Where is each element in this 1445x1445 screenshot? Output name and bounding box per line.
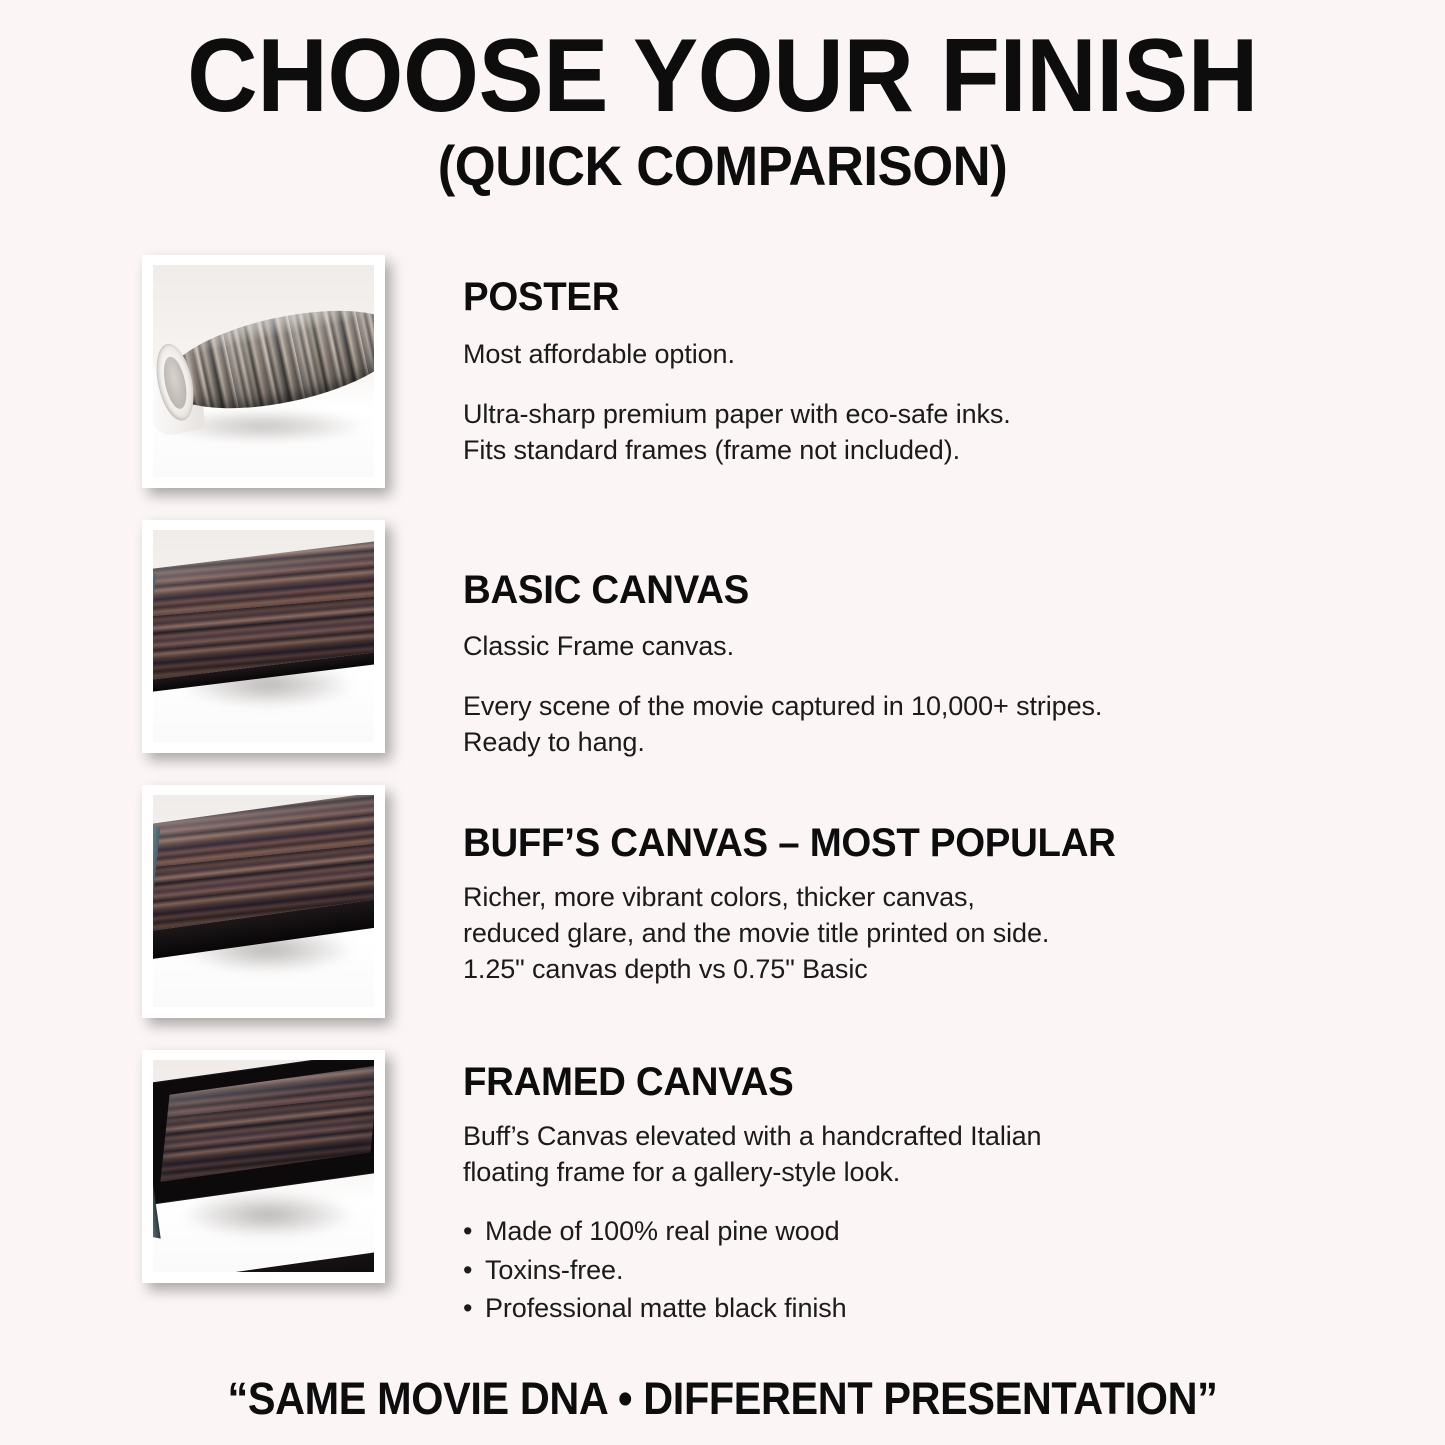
framed-canvas-text: FRAMED CANVAS Buff’s Canvas elevated wit… [463,1062,1253,1327]
poster-title: POSTER [463,277,1221,317]
poster-image-card [142,255,385,488]
buffs-canvas-image-card [142,785,385,1018]
poster-roll-photo [153,265,374,477]
framed-canvas-bullets: Made of 100% real pine wood Toxins-free.… [463,1212,1253,1327]
comparison-rows: POSTER Most affordable option. Ultra-sha… [0,255,1445,1315]
footer-tagline: “SAME MOVIE DNA • DIFFERENT PRESENTATION… [58,1374,1387,1424]
buffs-canvas-paragraph-1: Richer, more vibrant colors, thicker can… [463,879,1253,988]
page-subtitle: (QUICK COMPARISON) [43,131,1401,196]
footer: “SAME MOVIE DNA • DIFFERENT PRESENTATION… [0,1374,1445,1424]
page-title: CHOOSE YOUR FINISH [43,0,1401,131]
frame-shadow [180,1191,357,1238]
framed-canvas-photo [153,1060,374,1272]
comparison-row-buffs-canvas: BUFF’S CANVAS – MOST POPULAR Richer, mor… [0,785,1445,1050]
basic-canvas-photo [153,530,374,742]
basic-canvas-text: BASIC CANVAS Classic Frame canvas. Every… [463,570,1253,761]
poster-paragraph-2: Ultra-sharp premium paper with eco-safe … [463,396,1253,468]
framed-canvas-title: FRAMED CANVAS [463,1062,1221,1102]
buffs-canvas-photo [153,795,374,1007]
header: CHOOSE YOUR FINISH (QUICK COMPARISON) [0,0,1445,196]
list-item: Toxins-free. [463,1251,1253,1289]
buffs-canvas-title: BUFF’S CANVAS – MOST POPULAR [463,823,1221,863]
poster-paragraph-1: Most affordable option. [463,336,1253,372]
basic-canvas-title: BASIC CANVAS [463,570,1221,610]
framed-canvas-image-card [142,1050,385,1283]
framed-canvas-paragraph-1: Buff’s Canvas elevated with a handcrafte… [463,1118,1253,1190]
buffs-canvas-text: BUFF’S CANVAS – MOST POPULAR Richer, mor… [463,823,1253,988]
infographic-page: CHOOSE YOUR FINISH (QUICK COMPARISON) PO… [0,0,1445,1445]
basic-canvas-image-card [142,520,385,753]
comparison-row-basic-canvas: BASIC CANVAS Classic Frame canvas. Every… [0,520,1445,785]
list-item: Made of 100% real pine wood [463,1212,1253,1250]
poster-text: POSTER Most affordable option. Ultra-sha… [463,277,1253,469]
comparison-row-framed-canvas: FRAMED CANVAS Buff’s Canvas elevated wit… [0,1050,1445,1315]
basic-canvas-paragraph-2: Every scene of the movie captured in 10,… [463,688,1253,760]
basic-canvas-paragraph-1: Classic Frame canvas. [463,628,1253,664]
list-item: Professional matte black finish [463,1289,1253,1327]
comparison-row-poster: POSTER Most affordable option. Ultra-sha… [0,255,1445,520]
